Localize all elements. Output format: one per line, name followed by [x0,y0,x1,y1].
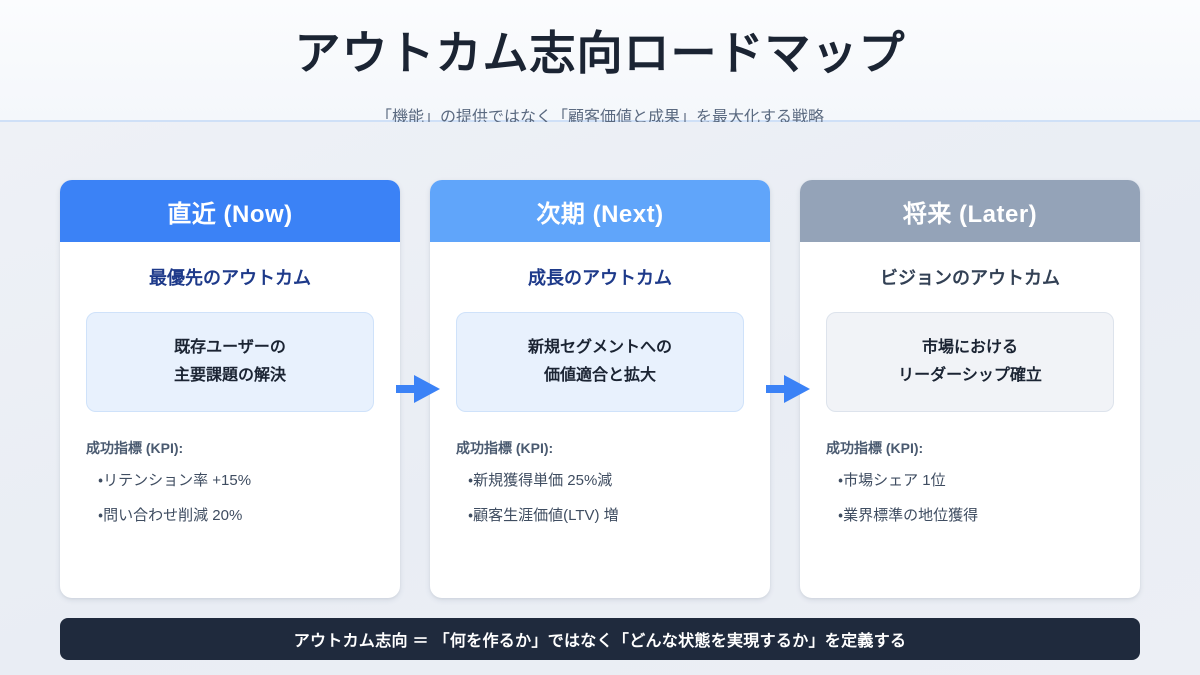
phase-title-next: 次期 (Next) [536,194,663,229]
phase-header-now: 直近 (Now) [60,180,400,242]
outcome-line-2: 主要課題の解決 [174,365,286,387]
footer-banner: アウトカム志向 ＝ 「何を作るか」ではなく「どんな状態を実現するか」を定義する [60,618,1140,660]
header-band: アウトカム志向ロードマップ 「機能」の提供ではなく「顧客価値と成果」を最大化する… [0,0,1200,122]
outcome-line-1: 既存ユーザーの [174,337,286,359]
outcome-line-2: リーダーシップ確立 [898,365,1042,387]
outcome-line-1: 市場における [922,337,1018,359]
phase-title-now: 直近 (Now) [167,194,292,229]
kpi-list-next: ・新規獲得単価 25%減 ・顧客生涯価値(LTV) 増 [456,470,744,527]
outcome-box-later: 市場における リーダーシップ確立 [826,312,1114,412]
phase-header-later: 将来 (Later) [800,180,1140,242]
kpi-list-later: ・市場シェア 1位 ・業界標準の地位獲得 [826,470,1114,527]
list-item: ・業界標準の地位獲得 [826,505,1114,528]
list-item: ・新規獲得単価 25%減 [456,470,744,493]
kpi-label-later: 成功指標 (KPI): [826,438,1114,458]
phase-card-row: 直近 (Now) 最優先のアウトカム 既存ユーザーの 主要課題の解決 成功指標 … [0,180,1200,598]
phase-card-later[interactable]: 将来 (Later) ビジョンのアウトカム 市場における リーダーシップ確立 成… [800,180,1140,598]
phase-subtitle-now: 最優先のアウトカム [86,264,374,290]
outcome-box-now: 既存ユーザーの 主要課題の解決 [86,312,374,412]
roadmap-slide: アウトカム志向ロードマップ 「機能」の提供ではなく「顧客価値と成果」を最大化する… [0,0,1200,675]
kpi-list-now: ・リテンション率 +15% ・問い合わせ削減 20% [86,470,374,527]
list-item: ・顧客生涯価値(LTV) 増 [456,505,744,528]
phase-subtitle-later: ビジョンのアウトカム [826,264,1114,290]
kpi-label-now: 成功指標 (KPI): [86,438,374,458]
phase-subtitle-next: 成長のアウトカム [456,264,744,290]
phase-body-later: ビジョンのアウトカム 市場における リーダーシップ確立 成功指標 (KPI): … [800,264,1140,527]
outcome-box-next: 新規セグメントへの 価値適合と拡大 [456,312,744,412]
outcome-line-1: 新規セグメントへの [528,337,672,359]
phase-card-now[interactable]: 直近 (Now) 最優先のアウトカム 既存ユーザーの 主要課題の解決 成功指標 … [60,180,400,598]
list-item: ・リテンション率 +15% [86,470,374,493]
phase-title-later: 将来 (Later) [903,194,1037,229]
list-item: ・市場シェア 1位 [826,470,1114,493]
kpi-label-next: 成功指標 (KPI): [456,438,744,458]
phase-body-next: 成長のアウトカム 新規セグメントへの 価値適合と拡大 成功指標 (KPI): ・… [430,264,770,527]
outcome-line-2: 価値適合と拡大 [544,365,656,387]
phase-header-next: 次期 (Next) [430,180,770,242]
phase-card-next[interactable]: 次期 (Next) 成長のアウトカム 新規セグメントへの 価値適合と拡大 成功指… [430,180,770,598]
page-title: アウトカム志向ロードマップ [0,28,1200,79]
list-item: ・問い合わせ削減 20% [86,505,374,528]
footer-banner-text: アウトカム志向 ＝ 「何を作るか」ではなく「どんな状態を実現するか」を定義する [294,627,907,651]
phase-body-now: 最優先のアウトカム 既存ユーザーの 主要課題の解決 成功指標 (KPI): ・リ… [60,264,400,527]
arrow-right-icon [396,373,440,405]
arrow-right-icon [766,373,810,405]
